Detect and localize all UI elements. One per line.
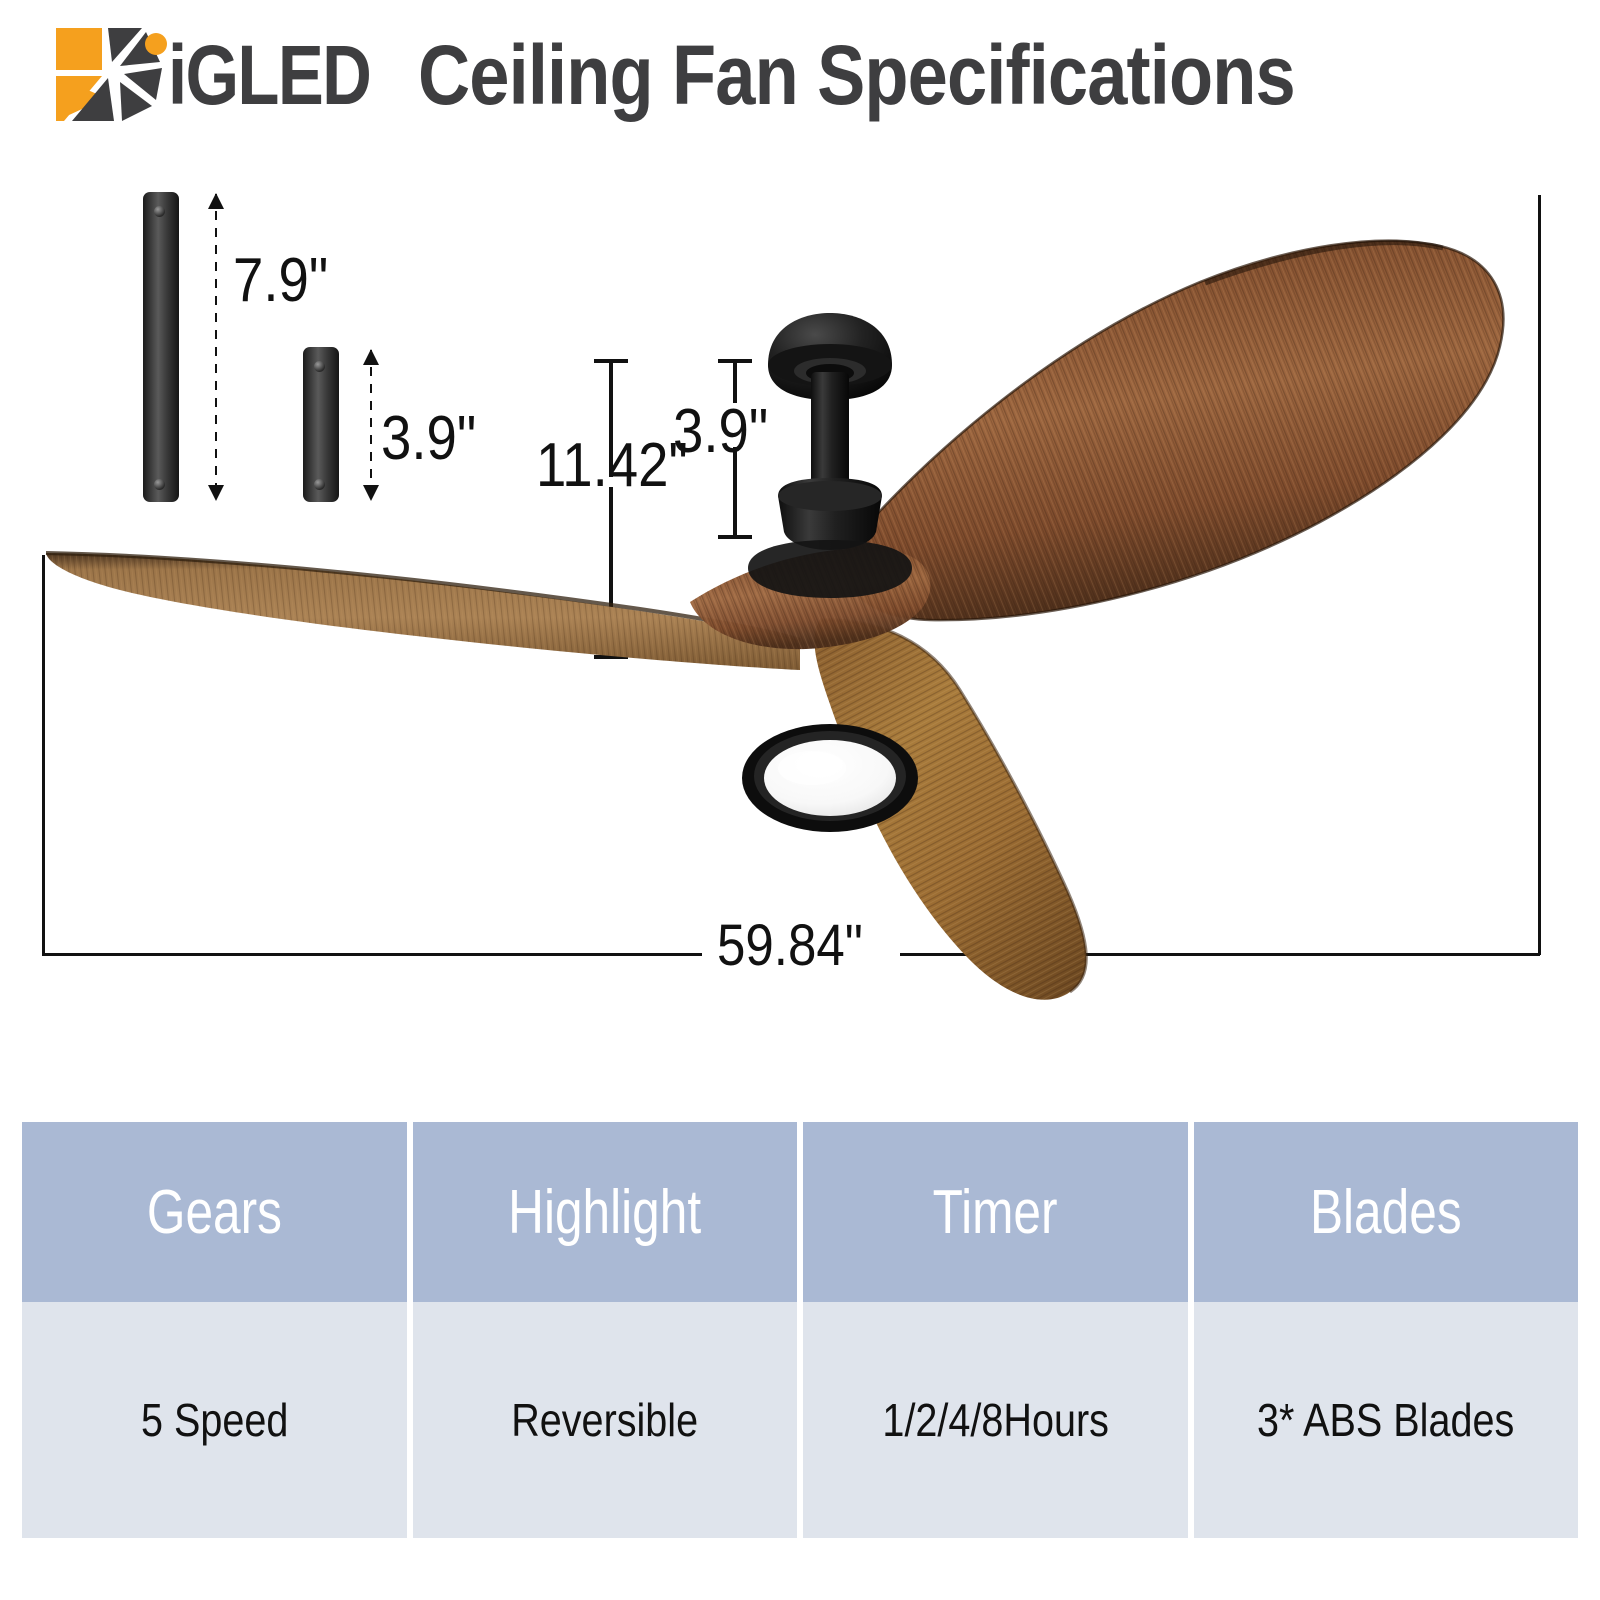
specification-table: Gears 5 Speed Highlight Reversible Timer…: [22, 1122, 1578, 1538]
spec-header-cell: Highlight: [413, 1122, 798, 1302]
page-header: iGLED Ceiling Fan Specifications: [0, 0, 1600, 150]
led-light-kit: [742, 724, 918, 832]
spec-header-label: Gears: [147, 1177, 282, 1248]
spec-value-label: 1/2/4/8Hours: [882, 1393, 1109, 1447]
spec-value-label: Reversible: [511, 1393, 698, 1447]
brand-name: iGLED: [168, 28, 370, 123]
spec-column-gears: Gears 5 Speed: [22, 1122, 407, 1538]
fan-blade-left: [46, 553, 800, 670]
spec-header-cell: Blades: [1194, 1122, 1579, 1302]
spec-header-cell: Gears: [22, 1122, 407, 1302]
ceiling-fan-illustration: [0, 150, 1600, 1080]
fan-mounting-hardware: [748, 313, 912, 598]
spec-header-cell: Timer: [803, 1122, 1188, 1302]
spec-value-cell: 1/2/4/8Hours: [803, 1302, 1188, 1538]
spec-value-cell: Reversible: [413, 1302, 798, 1538]
spec-value-cell: 3* ABS Blades: [1194, 1302, 1579, 1538]
spec-header-label: Timer: [933, 1177, 1058, 1248]
spec-value-label: 5 Speed: [141, 1393, 288, 1447]
spec-value-label: 3* ABS Blades: [1257, 1393, 1514, 1447]
spec-column-blades: Blades 3* ABS Blades: [1194, 1122, 1579, 1538]
spec-value-cell: 5 Speed: [22, 1302, 407, 1538]
page-title: Ceiling Fan Specifications: [418, 28, 1295, 123]
fan-diagram: 7.9" 3.9" 11.42" 3.9" 59.84": [0, 150, 1600, 1080]
spec-column-highlight: Highlight Reversible: [413, 1122, 798, 1538]
spec-header-label: Blades: [1310, 1177, 1462, 1248]
aperture-logo-icon: [50, 22, 170, 127]
fan-blade-upper-right: [844, 241, 1503, 620]
spec-header-label: Highlight: [508, 1177, 701, 1248]
spec-column-timer: Timer 1/2/4/8Hours: [803, 1122, 1188, 1538]
